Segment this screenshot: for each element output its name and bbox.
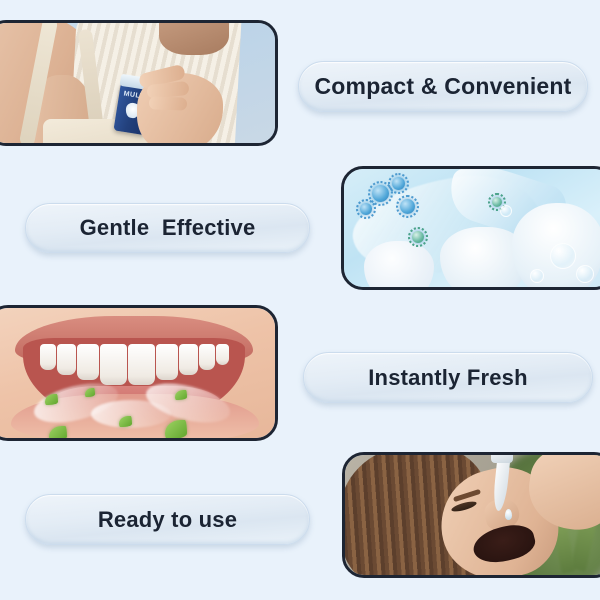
teeth-row [33, 344, 235, 388]
feature-image-ready-to-use [342, 452, 600, 578]
feature-image-gentle-effective [341, 166, 600, 290]
germ-particle-5 [412, 231, 424, 243]
germ-particle-3 [360, 203, 372, 215]
mint-leaf-2 [85, 388, 95, 397]
feature-label-instantly-fresh: Instantly Fresh [303, 352, 593, 403]
woman-applying-dropper-art [345, 455, 600, 575]
tooth [199, 344, 215, 370]
tooth [100, 344, 127, 385]
tooth [156, 344, 178, 380]
mint-leaf-6 [175, 390, 187, 400]
mint-leaf-1 [45, 394, 58, 405]
dropper-bulb [491, 455, 513, 463]
neck-shape [159, 23, 229, 55]
smile-closeup-art [0, 308, 275, 438]
feature-image-instantly-fresh [0, 305, 278, 441]
germ-particle-4 [400, 199, 415, 214]
feature-label-ready-to-use: Ready to use [25, 494, 310, 545]
tooth [77, 344, 99, 380]
feature-label-gentle-effective: Gentle Effective [25, 203, 310, 253]
germ-particle-2 [392, 177, 405, 190]
tooth [57, 344, 76, 375]
infographic-canvas: MULTI [0, 0, 600, 600]
tooth [179, 344, 198, 375]
tooth [128, 344, 155, 385]
bubble-3 [530, 269, 544, 283]
finger-3 [149, 96, 187, 110]
teeth-3d-render-art [344, 169, 600, 287]
feature-label-compact-convenient: Compact & Convenient [298, 61, 588, 112]
woman-carrying-product-in-tote-bag-art: MULTI [0, 23, 275, 143]
bubble-4 [500, 205, 512, 217]
germ-particle-1 [372, 185, 389, 202]
bubble-1 [550, 243, 576, 269]
feature-image-compact-convenient: MULTI [0, 20, 278, 146]
tooth-left [364, 241, 434, 287]
liquid-drop [505, 509, 512, 520]
mint-leaf-4 [119, 416, 132, 427]
tooth [40, 344, 56, 370]
bubble-2 [576, 265, 594, 283]
tooth [216, 344, 229, 365]
germ-particle-6 [492, 197, 502, 207]
